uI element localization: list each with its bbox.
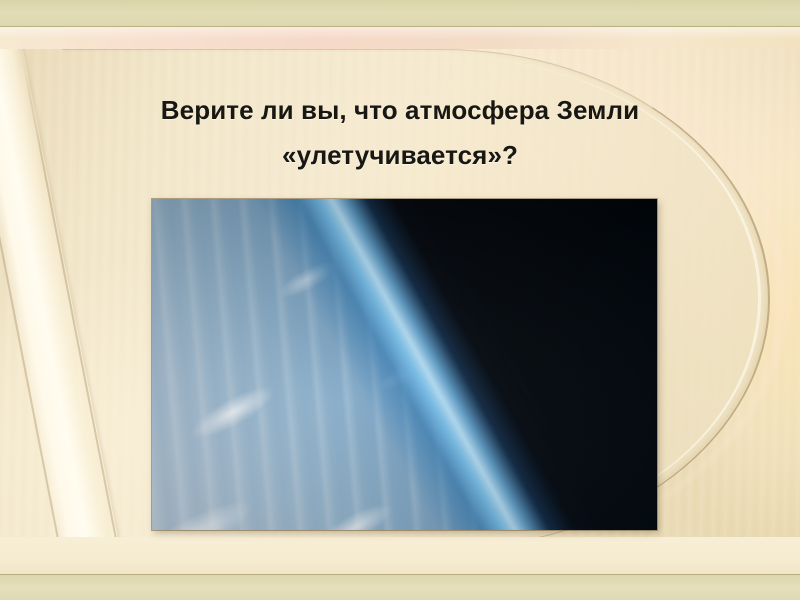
top-pink-band <box>0 27 800 49</box>
presentation-slide: Верите ли вы, что атмосфера Земли «улету… <box>0 0 800 600</box>
earth-from-space-photo <box>152 199 657 530</box>
photo-vignette <box>152 199 657 530</box>
slide-title: Верите ли вы, что атмосфера Земли «улету… <box>60 88 740 178</box>
top-olive-band <box>0 0 800 27</box>
bottom-olive-band <box>0 574 800 600</box>
slide-title-line-2: «улетучивается»? <box>60 133 740 178</box>
slide-title-line-1: Верите ли вы, что атмосфера Земли <box>60 88 740 133</box>
bottom-cream-band <box>0 537 800 574</box>
